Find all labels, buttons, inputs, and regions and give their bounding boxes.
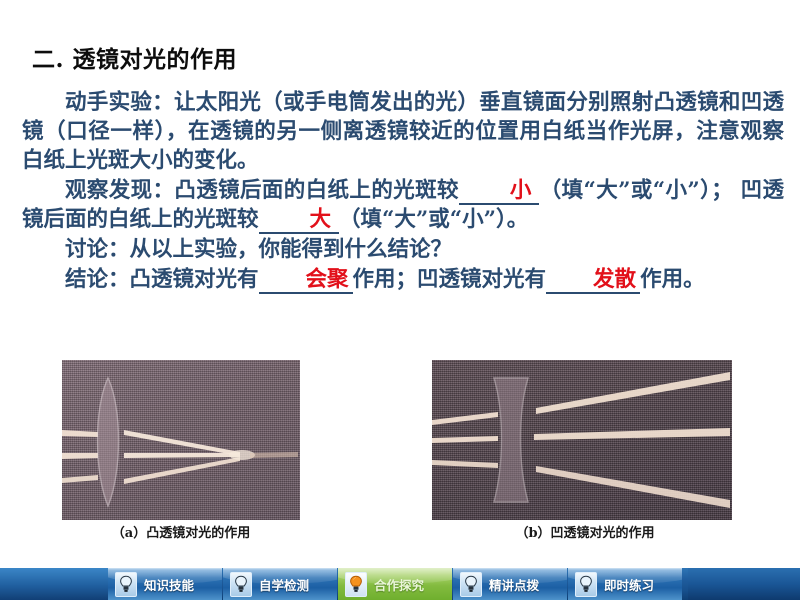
nav-tab-detailed-explanation[interactable]: 精讲点拨 [453, 568, 567, 600]
lightbulb-icon [575, 572, 597, 597]
nav-tab-label: 知识技能 [144, 575, 194, 594]
navbar-right-fill [688, 568, 800, 600]
navbar-tab-list: 知识技能 自学检测 [108, 568, 683, 600]
figure-caption-b: （b）凹透镜对光的作用 [432, 522, 732, 541]
figure-caption-a: （a）凸透镜对光的作用 [62, 522, 300, 541]
nav-tab-knowledge-skills[interactable]: 知识技能 [108, 568, 222, 600]
lightbulb-glyph-lit [349, 575, 363, 593]
lightbulb-icon [230, 572, 252, 597]
discussion-text: 讨论：从以上实验，你能得到什么结论？ [65, 237, 452, 262]
paragraph-discussion: 讨论：从以上实验，你能得到什么结论？ [22, 235, 784, 264]
slide-canvas: 二. 透镜对光的作用 动手实验：让太阳光（或手电筒发出的光）垂直镜面分别照射凸透… [0, 0, 800, 600]
answer-blank-spot-size-concave: 大 [259, 207, 340, 234]
page-title: 二. 透镜对光的作用 [32, 40, 237, 74]
lightbulb-glyph [119, 575, 133, 593]
lightbulb-icon [115, 572, 137, 597]
bottom-navigation-bar: 知识技能 自学检测 [0, 568, 800, 600]
nav-tab-label: 合作探究 [374, 575, 424, 594]
photo-convex-lens [62, 360, 300, 520]
lightbulb-glyph [234, 575, 248, 593]
paragraph-experiment: 动手实验：让太阳光（或手电筒发出的光）垂直镜面分别照射凸透镜和凹透镜（口径一样）… [22, 88, 784, 175]
nav-tab-label: 自学检测 [259, 575, 309, 594]
lightbulb-icon [345, 572, 367, 597]
nav-tab-self-study-test[interactable]: 自学检测 [223, 568, 337, 600]
nav-tab-instant-practice[interactable]: 即时练习 [568, 568, 682, 600]
answer-blank-concave-effect: 发散 [546, 267, 640, 294]
navbar-left-cap [0, 568, 108, 600]
conclusion-text-middle: 作用；凹透镜对光有 [353, 267, 547, 292]
photo-concave-lens [432, 360, 732, 520]
answer-blank-spot-size-convex: 小 [459, 178, 540, 205]
nav-tab-label: 即时练习 [604, 575, 654, 594]
experiment-text: 动手实验：让太阳光（或手电筒发出的光）垂直镜面分别照射凸透镜和凹透镜（口径一样）… [22, 90, 784, 173]
figure-concave-lens: （b）凹透镜对光的作用 [432, 360, 732, 520]
nav-tab-label: 精讲点拨 [489, 575, 539, 594]
lightbulb-glyph [579, 575, 593, 593]
conclusion-text-after: 作用。 [640, 267, 705, 292]
observation-text-before: 观察发现：凸透镜后面的白纸上的光斑较 [65, 178, 459, 203]
paragraph-observation: 观察发现：凸透镜后面的白纸上的光斑较小（填“大”或“小”）； 凹透镜后面的白纸上… [22, 176, 784, 234]
concave-lens-diagram [432, 360, 732, 520]
conclusion-text-before: 结论：凸透镜对光有 [65, 267, 259, 292]
observation-text-after: （填“大”或“小”）。 [339, 207, 528, 232]
lightbulb-icon [460, 572, 482, 597]
lightbulb-glyph [464, 575, 478, 593]
figure-convex-lens: （a）凸透镜对光的作用 [62, 360, 300, 520]
convex-lens-diagram [62, 360, 300, 520]
paragraph-conclusion: 结论：凸透镜对光有会聚作用；凹透镜对光有发散作用。 [22, 265, 784, 294]
lesson-body: 动手实验：让太阳光（或手电筒发出的光）垂直镜面分别照射凸透镜和凹透镜（口径一样）… [22, 88, 784, 294]
figure-group: （a）凸透镜对光的作用 （b）凹透镜对光的作用 [0, 360, 800, 545]
nav-tab-cooperative-inquiry[interactable]: 合作探究 [338, 568, 452, 600]
answer-blank-convex-effect: 会聚 [259, 267, 353, 294]
